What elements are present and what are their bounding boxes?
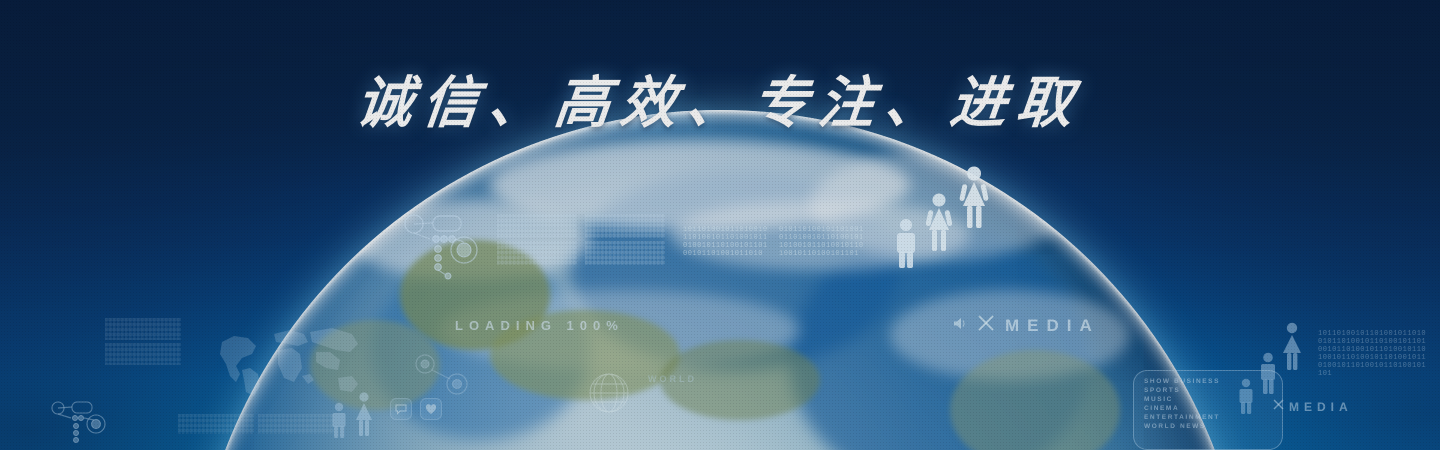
page-title: 诚信、高效、专注、进取 bbox=[0, 58, 1440, 139]
earth-globe bbox=[190, 110, 1250, 450]
banner-stage: WORLD 诚信、高效、专注、进取 1011010010110100101101… bbox=[0, 0, 1440, 450]
